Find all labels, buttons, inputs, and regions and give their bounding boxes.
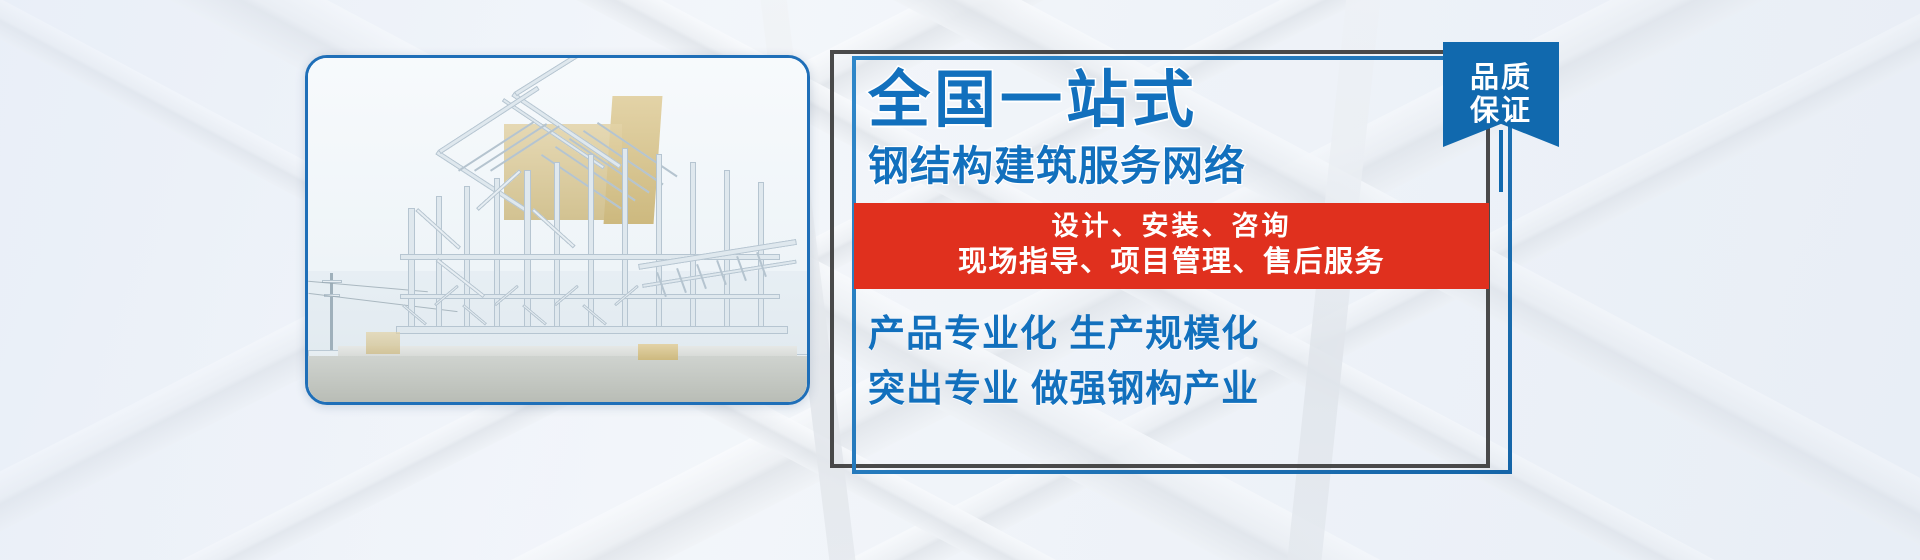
photo-scene <box>308 58 807 402</box>
message-panel: 全国一站式 钢结构建筑服务网络 设计、安装、咨询 现场指导、项目管理、售后服务 … <box>830 50 1510 480</box>
steel-frame-house-photo <box>305 55 810 405</box>
subheadline: 钢结构建筑服务网络 <box>868 144 1514 189</box>
panel-content: 全国一站式 钢结构建筑服务网络 设计、安装、咨询 现场指导、项目管理、售后服务 … <box>854 68 1514 416</box>
headline: 全国一站式 <box>868 68 1514 134</box>
ribbon-tail <box>1499 130 1503 192</box>
badge-line-1: 品质 <box>1470 62 1532 94</box>
services-line-2: 现场指导、项目管理、售后服务 <box>854 244 1489 280</box>
badge-line-2: 保证 <box>1470 95 1532 127</box>
slogan-line-1: 产品专业化 生产规模化 <box>868 307 1514 361</box>
services-line-1: 设计、安装、咨询 <box>854 210 1489 244</box>
slogan-line-2: 突出专业 做强钢构产业 <box>868 362 1514 416</box>
services-red-box: 设计、安装、咨询 现场指导、项目管理、售后服务 <box>854 203 1489 289</box>
